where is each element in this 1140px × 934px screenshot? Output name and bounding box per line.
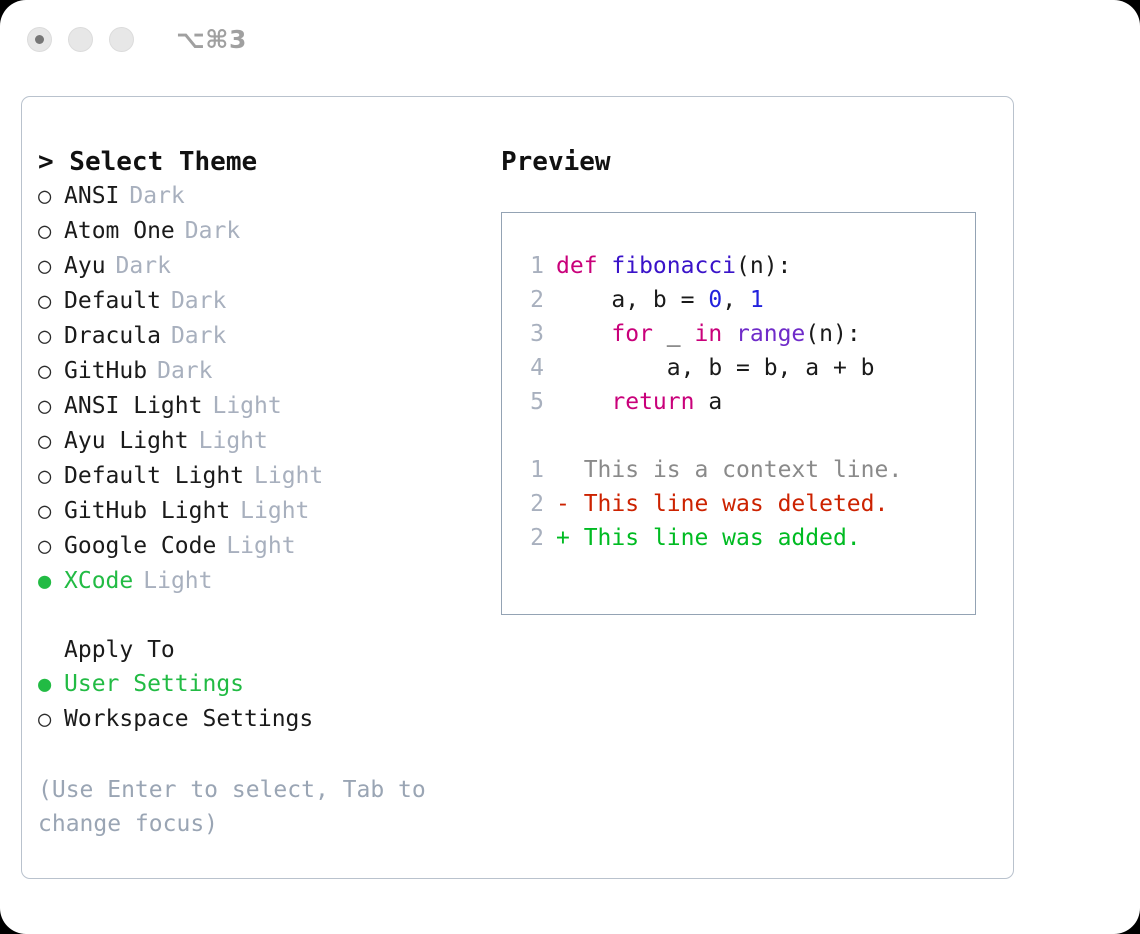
code-line-number: 1 xyxy=(522,249,544,283)
theme-item[interactable]: ○GitHubDark xyxy=(38,354,488,389)
theme-item-variant-tag: Light xyxy=(143,564,212,598)
code-token-plain: , xyxy=(722,287,750,313)
theme-item-variant-tag: Light xyxy=(199,424,268,458)
theme-item[interactable]: ○DraculaDark xyxy=(38,319,488,354)
diff-marker xyxy=(556,457,570,483)
diff-line: 1 This is a context line. xyxy=(522,453,975,487)
radio-unselected-icon: ○ xyxy=(38,425,64,459)
radio-unselected-icon: ○ xyxy=(38,215,64,249)
code-token-plain: _ xyxy=(653,321,695,347)
code-line-number: 4 xyxy=(522,351,544,385)
theme-item[interactable]: ○Ayu LightLight xyxy=(38,424,488,459)
radio-unselected-icon: ○ xyxy=(38,390,64,424)
theme-item-name: Atom One xyxy=(64,214,175,248)
theme-item-name: GitHub Light xyxy=(64,494,230,528)
theme-item[interactable]: ○DefaultDark xyxy=(38,284,488,319)
apply-to-list[interactable]: ●User Settings○Workspace Settings xyxy=(38,667,488,737)
apply-to-option-label: User Settings xyxy=(64,667,244,701)
window-controls xyxy=(27,27,134,52)
theme-item-variant-tag: Dark xyxy=(157,354,212,388)
select-theme-heading: > Select Theme xyxy=(38,145,488,179)
diff-sample: 1 This is a context line.2- This line wa… xyxy=(522,453,975,555)
radio-unselected-icon: ○ xyxy=(38,495,64,529)
radio-unselected-icon: ○ xyxy=(38,250,64,284)
code-token-num: 1 xyxy=(750,287,764,313)
preview-box: 1def fibonacci(n):2 a, b = 0, 13 for _ i… xyxy=(501,212,976,615)
code-line: 3 for _ in range(n): xyxy=(522,317,975,351)
radio-unselected-icon: ○ xyxy=(38,320,64,354)
theme-item-variant-tag: Dark xyxy=(171,319,226,353)
code-line: 5 return a xyxy=(522,385,975,419)
code-line-number: 2 xyxy=(522,283,544,317)
theme-item[interactable]: ○AyuDark xyxy=(38,249,488,284)
theme-item-name: GitHub xyxy=(64,354,147,388)
preview-heading: Preview xyxy=(501,145,991,179)
code-token-plain: a xyxy=(694,389,722,415)
theme-item-variant-tag: Light xyxy=(240,494,309,528)
code-token-plain xyxy=(556,389,611,415)
radio-selected-icon: ● xyxy=(38,668,64,702)
apply-to-heading: Apply To xyxy=(38,633,488,667)
radio-unselected-icon: ○ xyxy=(38,460,64,494)
code-token-kw: def xyxy=(556,253,611,279)
main-panel: > Select Theme ○ANSIDark○Atom OneDark○Ay… xyxy=(21,96,1014,879)
theme-item-name: Ayu xyxy=(64,249,106,283)
code-line: 1def fibonacci(n): xyxy=(522,249,975,283)
preview-column: Preview 1def fibonacci(n):2 a, b = 0, 13… xyxy=(501,145,991,615)
theme-item-variant-tag: Dark xyxy=(129,179,184,213)
panel-columns: > Select Theme ○ANSIDark○Atom OneDark○Ay… xyxy=(22,97,1013,878)
radio-unselected-icon: ○ xyxy=(38,180,64,214)
radio-unselected-icon: ○ xyxy=(38,703,64,737)
diff-line: 2+ This line was added. xyxy=(522,521,975,555)
code-token-bi: range xyxy=(736,321,805,347)
titlebar: ⌥⌘3 xyxy=(0,0,1140,78)
diff-marker: - xyxy=(556,491,570,517)
theme-item-name: ANSI xyxy=(64,179,119,213)
theme-item-name: Google Code xyxy=(64,529,216,563)
code-line: 4 a, b = b, a + b xyxy=(522,351,975,385)
theme-item-name: Default Light xyxy=(64,459,244,493)
preview-spacer xyxy=(522,419,975,453)
keyboard-shortcut-label: ⌥⌘3 xyxy=(176,25,247,54)
diff-line-number: 2 xyxy=(522,521,544,555)
code-token-num: 0 xyxy=(708,287,722,313)
window-dot-active[interactable] xyxy=(27,27,52,52)
code-token-kw: in xyxy=(694,321,722,347)
theme-item[interactable]: ○Default LightLight xyxy=(38,459,488,494)
theme-item-name: Dracula xyxy=(64,319,161,353)
theme-item-variant-tag: Light xyxy=(254,459,323,493)
theme-item-variant-tag: Dark xyxy=(185,214,240,248)
theme-item[interactable]: ○Atom OneDark xyxy=(38,214,488,249)
diff-marker: + xyxy=(556,525,570,551)
apply-to-option[interactable]: ●User Settings xyxy=(38,667,488,702)
theme-item[interactable]: ○ANSI LightLight xyxy=(38,389,488,424)
theme-item[interactable]: ○GitHub LightLight xyxy=(38,494,488,529)
theme-item-name: ANSI Light xyxy=(64,389,202,423)
diff-text: This is a context line. xyxy=(570,457,902,483)
code-token-plain: a, b = xyxy=(556,287,708,313)
window-dot-active-inner xyxy=(35,35,44,44)
code-token-kw: return xyxy=(611,389,694,415)
code-token-plain: (n): xyxy=(805,321,860,347)
diff-text: This line was added. xyxy=(570,525,861,551)
keyboard-hint: (Use Enter to select, Tab to change focu… xyxy=(38,773,438,841)
theme-item-variant-tag: Light xyxy=(212,389,281,423)
apply-to-option-label: Workspace Settings xyxy=(64,702,313,736)
theme-item-name: Ayu Light xyxy=(64,424,189,458)
code-sample: 1def fibonacci(n):2 a, b = 0, 13 for _ i… xyxy=(522,249,975,419)
code-line: 2 a, b = 0, 1 xyxy=(522,283,975,317)
theme-selector-column: > Select Theme ○ANSIDark○Atom OneDark○Ay… xyxy=(38,145,488,841)
theme-item[interactable]: ○ANSIDark xyxy=(38,179,488,214)
radio-unselected-icon: ○ xyxy=(38,530,64,564)
app-window: ⌥⌘3 > Select Theme ○ANSIDark○Atom OneDar… xyxy=(0,0,1140,934)
window-dot-3[interactable] xyxy=(109,27,134,52)
diff-line: 2- This line was deleted. xyxy=(522,487,975,521)
theme-item[interactable]: ●XCodeLight xyxy=(38,564,488,599)
theme-item-variant-tag: Dark xyxy=(171,284,226,318)
radio-unselected-icon: ○ xyxy=(38,355,64,389)
radio-unselected-icon: ○ xyxy=(38,285,64,319)
code-token-plain xyxy=(556,321,611,347)
code-token-plain: (n): xyxy=(736,253,791,279)
theme-item-name: Default xyxy=(64,284,161,318)
code-token-plain xyxy=(722,321,736,347)
theme-item-variant-tag: Light xyxy=(226,529,295,563)
diff-line-number: 2 xyxy=(522,487,544,521)
theme-item-variant-tag: Dark xyxy=(116,249,171,283)
radio-selected-icon: ● xyxy=(38,565,64,599)
apply-to-option[interactable]: ○Workspace Settings xyxy=(38,702,488,737)
code-token-fn: fibonacci xyxy=(611,253,736,279)
theme-item-name: XCode xyxy=(64,564,133,598)
window-dot-2[interactable] xyxy=(68,27,93,52)
code-line-number: 3 xyxy=(522,317,544,351)
diff-line-number: 1 xyxy=(522,453,544,487)
theme-list[interactable]: ○ANSIDark○Atom OneDark○AyuDark○DefaultDa… xyxy=(38,179,488,599)
theme-item[interactable]: ○Google CodeLight xyxy=(38,529,488,564)
code-line-number: 5 xyxy=(522,385,544,419)
code-token-kw: for xyxy=(611,321,653,347)
code-token-plain: a, b = b, a + b xyxy=(556,355,875,381)
diff-text: This line was deleted. xyxy=(570,491,889,517)
